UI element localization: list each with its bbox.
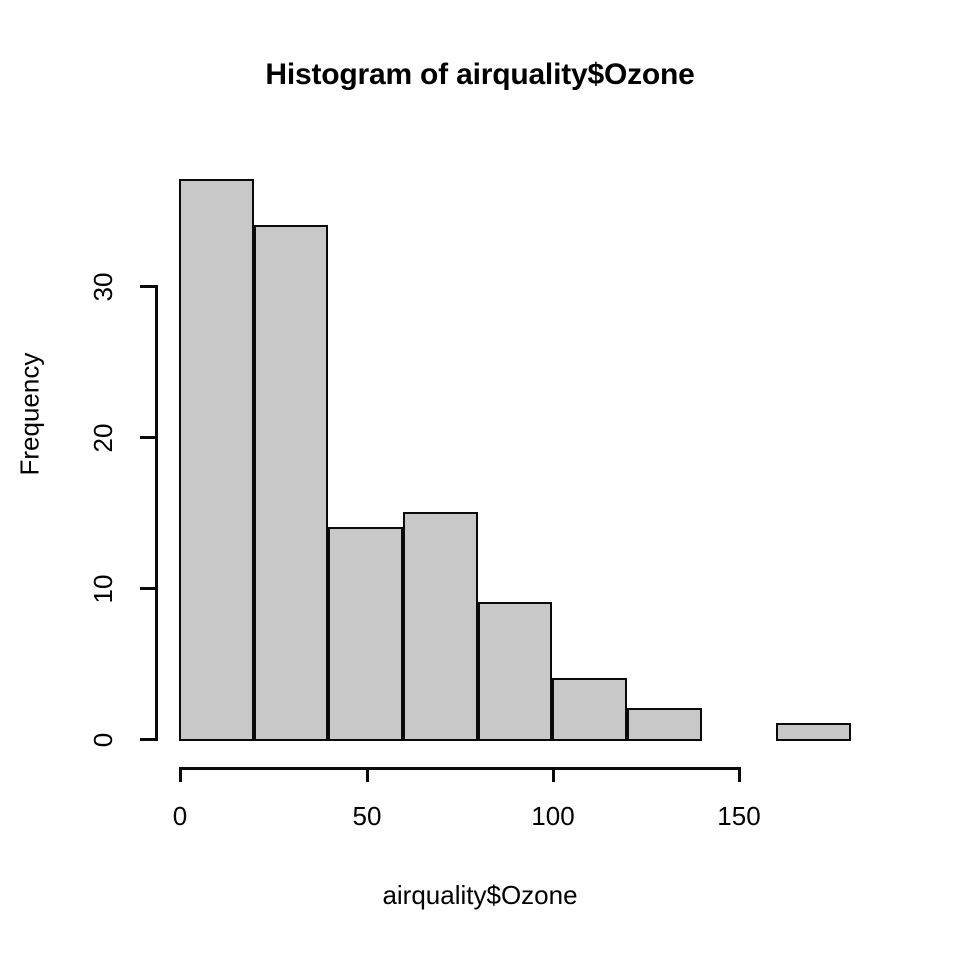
x-tick-100 (552, 767, 555, 782)
y-tick-label-30: 30 (90, 257, 116, 317)
x-tick-50 (366, 767, 369, 782)
x-axis-spine (179, 767, 741, 770)
histogram-bar (179, 179, 254, 741)
plot-area: 30 20 10 0 0 50 100 150 airquality$Ozone… (0, 0, 960, 960)
y-tick-label-0: 0 (90, 710, 116, 770)
y-tick-label-10: 10 (90, 559, 116, 619)
histogram-bar (552, 678, 627, 741)
x-axis-title: airquality$Ozone (0, 880, 960, 911)
histogram-bar (254, 225, 329, 741)
x-tick-label-150: 150 (699, 803, 779, 829)
y-axis-spine (155, 285, 158, 741)
y-tick-10 (140, 587, 155, 590)
y-axis-title: Frequency (15, 416, 46, 476)
x-tick-label-0: 0 (140, 803, 220, 829)
x-tick-label-100: 100 (513, 803, 593, 829)
histogram-bar (627, 708, 702, 741)
histogram-plot: Histogram of airquality$Ozone 30 20 10 0… (0, 0, 960, 960)
histogram-bar (328, 527, 403, 741)
y-tick-label-20: 20 (90, 408, 116, 468)
y-tick-30 (140, 285, 155, 288)
histogram-bar (403, 512, 478, 742)
x-tick-0 (179, 767, 182, 782)
histogram-bar (776, 723, 851, 741)
y-tick-0 (140, 738, 155, 741)
histogram-bar (478, 602, 553, 741)
y-tick-20 (140, 436, 155, 439)
x-tick-label-50: 50 (327, 803, 407, 829)
x-tick-150 (738, 767, 741, 782)
